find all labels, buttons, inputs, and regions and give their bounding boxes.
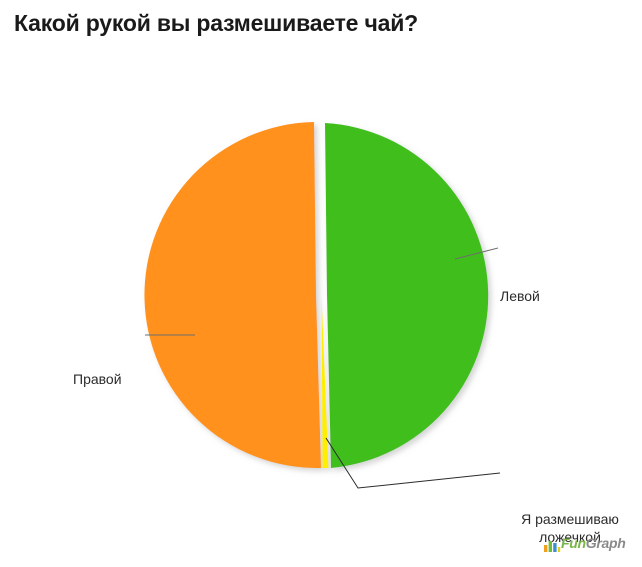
fungraph-watermark: FunGraph: [543, 534, 629, 554]
watermark-text: FunGraph: [561, 535, 626, 551]
bar-chart-icon: [543, 536, 561, 554]
watermark-prefix: Fun: [561, 535, 586, 551]
page-title: Какой рукой вы размешиваете чай?: [14, 10, 418, 37]
pie-chart: Правой Левой Я размешиваю ложечкой: [0, 48, 642, 528]
pie-slice-right-hand: [144, 122, 321, 468]
label-left-hand: Левой: [500, 288, 540, 304]
pie-slice-spoon: [322, 295, 329, 468]
watermark-suffix: Graph: [586, 535, 626, 551]
pie-chart-svg: [0, 48, 642, 528]
label-right-hand: Правой: [73, 371, 122, 387]
pie-slice-left-hand: [325, 123, 488, 468]
